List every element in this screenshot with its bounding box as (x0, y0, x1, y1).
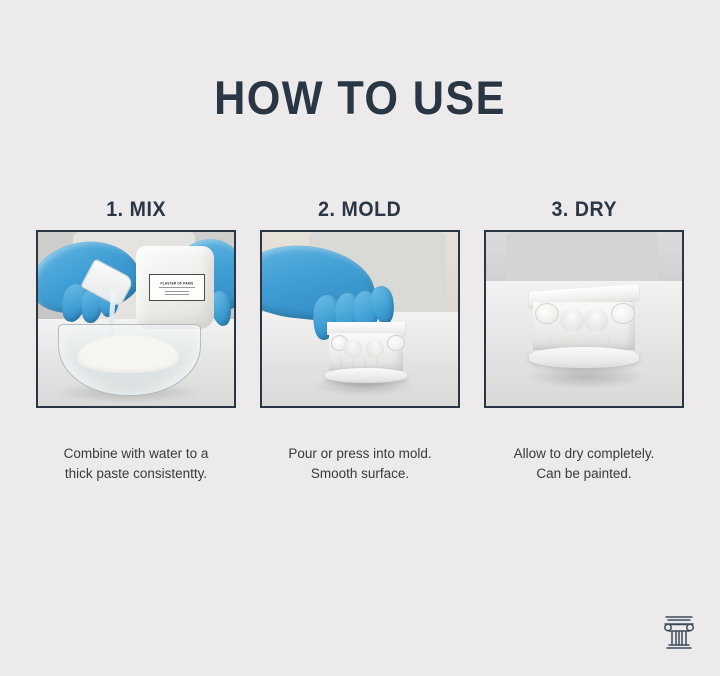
step-dry-heading: 3. DRY (551, 198, 617, 222)
capital-volute (387, 335, 405, 351)
step-dry-photo-frame (484, 230, 684, 408)
step-dry-caption: Allow to dry completely. Can be painted. (514, 444, 655, 483)
plaster-bag-label: PLASTER OF PARIS (149, 274, 206, 301)
step-mold-caption: Pour or press into mold. Smooth surface. (288, 444, 431, 483)
step-dry: 3. DRY (484, 198, 684, 483)
plaster-bag: PLASTER OF PARIS (136, 246, 214, 330)
capital-volute (535, 303, 559, 324)
capital-flute (352, 354, 354, 370)
step-mix-caption: Combine with water to a thick paste cons… (64, 444, 209, 483)
casting-shadow (525, 364, 647, 388)
step-mold-photo-frame (260, 230, 460, 408)
ionic-column-logo (656, 608, 702, 654)
capital-acanthus-leaf (584, 309, 608, 332)
step-mold-heading: 2. MOLD (318, 198, 401, 222)
capital-base (325, 368, 407, 384)
molding-plaster-photo (262, 232, 458, 406)
label-text-line (165, 294, 189, 295)
capital-flute (376, 354, 378, 370)
person-torso (506, 232, 659, 284)
capital-acanthus-leaf (366, 340, 384, 357)
step-mix: 1. MIX (36, 198, 236, 483)
dried-casting-photo (486, 232, 682, 406)
page-title: HOW TO USE (29, 70, 691, 125)
capital-base (529, 347, 639, 368)
mixing-plaster-photo: PLASTER OF PARIS (38, 232, 234, 406)
capital-flute (549, 331, 551, 350)
capital-acanthus-leaf (560, 309, 584, 332)
label-text-line (165, 291, 189, 292)
steps-row: 1. MIX (36, 198, 684, 483)
label-text-line (159, 287, 194, 288)
step-mold: 2. MOLD (260, 198, 460, 483)
step-mix-photo-frame: PLASTER OF PARIS (36, 230, 236, 408)
plaster-bag-label-title: PLASTER OF PARIS (161, 280, 194, 285)
step-mix-heading: 1. MIX (106, 198, 166, 222)
